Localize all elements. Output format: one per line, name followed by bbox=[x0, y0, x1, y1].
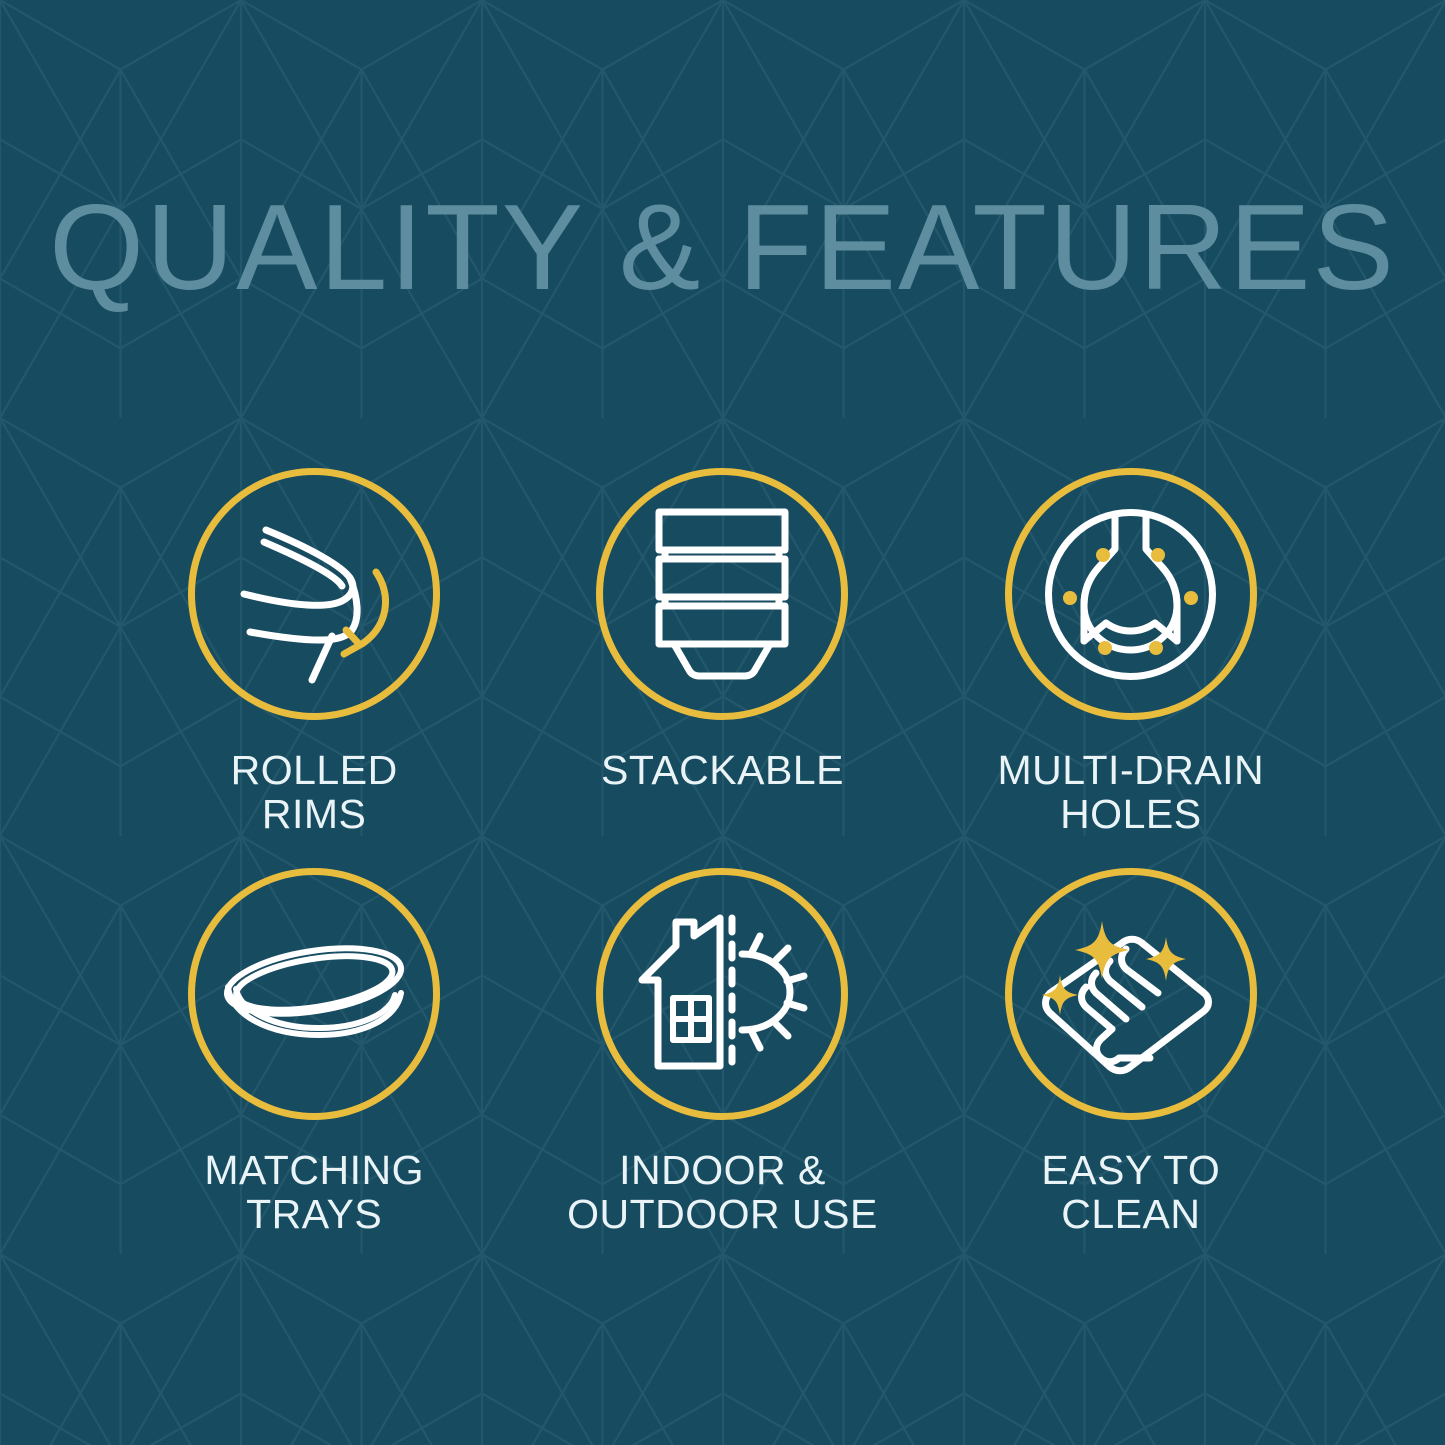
feature-item-matching-trays: MATCHING TRAYS bbox=[110, 868, 518, 1268]
feature-item-stackable: STACKABLE bbox=[518, 468, 926, 868]
feature-item-multi-drain-holes: MULTI-DRAIN HOLES bbox=[927, 468, 1335, 868]
page-title: QUALITY & FEATURES bbox=[0, 186, 1445, 308]
pot-base-drain-holes-icon bbox=[1005, 468, 1257, 720]
house-and-sun-icon bbox=[596, 868, 848, 1120]
feature-label: MATCHING TRAYS bbox=[204, 1148, 424, 1237]
feature-label: STACKABLE bbox=[601, 748, 844, 792]
feature-label: EASY TO CLEAN bbox=[1041, 1148, 1220, 1237]
feature-grid: ROLLED RIMS STACKABLE bbox=[110, 468, 1335, 1268]
feature-item-indoor-outdoor: INDOOR & OUTDOOR USE bbox=[518, 868, 926, 1268]
feature-item-easy-to-clean: EASY TO CLEAN bbox=[927, 868, 1335, 1268]
infographic-page: QUALITY & FEATURES bbox=[0, 0, 1445, 1445]
feature-label: ROLLED RIMS bbox=[231, 748, 398, 837]
feature-label: INDOOR & OUTDOOR USE bbox=[567, 1148, 878, 1237]
hand-wiping-cloth-sparkles-icon bbox=[1005, 868, 1257, 1120]
feature-label: MULTI-DRAIN HOLES bbox=[997, 748, 1264, 837]
feature-item-rolled-rims: ROLLED RIMS bbox=[110, 468, 518, 868]
stacked-pots-icon bbox=[596, 468, 848, 720]
rolled-rim-cross-section-icon bbox=[188, 468, 440, 720]
saucer-tray-icon bbox=[188, 868, 440, 1120]
